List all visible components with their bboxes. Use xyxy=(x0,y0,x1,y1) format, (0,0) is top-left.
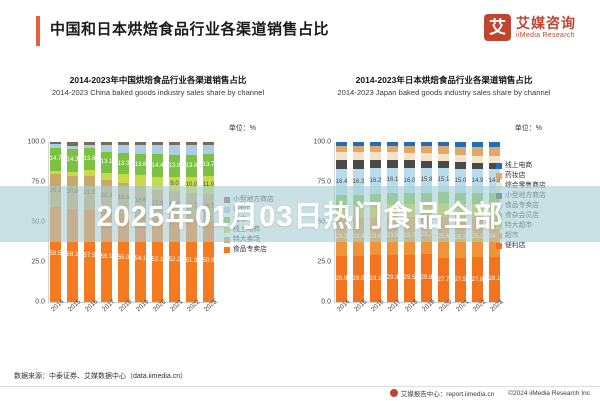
segment-综合零售商店 xyxy=(370,152,381,160)
segment-超市: 13.6 xyxy=(84,148,95,170)
chart-title-china: 2014-2023年中国烘焙食品行业各渠道销售占比 xyxy=(14,74,302,86)
y-tick-label: 100.0 xyxy=(27,139,45,146)
logo-text: 艾媒咨询 iiMedia Research xyxy=(516,16,576,40)
chart-subtitle-china: 2014-2023 China baked goods industry sal… xyxy=(14,87,302,98)
header-accent-bar xyxy=(36,16,40,46)
segment-value-label: 27.7 xyxy=(438,277,450,283)
segment-便利店: 29.1 xyxy=(370,255,381,302)
segment-便利店 xyxy=(101,145,112,152)
logo-name-en: iiMedia Research xyxy=(516,31,576,40)
segment-小型地方商店 xyxy=(353,160,364,168)
segment-便利店: 29.5 xyxy=(404,255,415,302)
segment-value-label: 13.3 xyxy=(118,161,130,167)
segment-药妆店 xyxy=(472,147,483,155)
y-tick-label: 0.0 xyxy=(321,299,331,306)
copyright-label: ©2024 iiMedia Research Inc xyxy=(508,390,590,397)
segment-超市: 13.7 xyxy=(203,154,214,176)
segment-综合零售商店 xyxy=(336,152,347,160)
segment-value-label: 58.1 xyxy=(67,252,79,258)
segment-value-label: 29.3 xyxy=(387,275,399,281)
segment-value-label: 50.9 xyxy=(203,258,215,264)
legend-item-食品专卖店[interactable]: 食品专卖店 xyxy=(224,246,274,254)
segment-value-label: 13.1 xyxy=(101,159,113,165)
x-axis-japan: 2014201520162017201820192020202120222023 xyxy=(336,305,506,345)
legend-swatch-icon xyxy=(496,173,502,179)
x-tick: 2020 xyxy=(438,305,455,345)
y-tick-label: 75.0 xyxy=(317,179,331,186)
x-tick: 2020 xyxy=(152,305,169,345)
segment-value-label: 27.5 xyxy=(455,277,467,283)
segment-药妆店 xyxy=(421,146,432,153)
x-tick: 2021 xyxy=(455,305,472,345)
segment-value-label: 15.8 xyxy=(421,177,433,183)
watermark-text: 2025年01月03日热门食品全部 xyxy=(0,186,600,242)
legend-swatch-icon xyxy=(496,243,502,249)
footer-content: 艾媒报告中心：report.iimedia.cn ©2024 iiMedia R… xyxy=(390,388,590,398)
legend-swatch-icon xyxy=(224,247,230,253)
segment-线上电商 xyxy=(118,174,129,183)
segment-超市: 13.8 xyxy=(186,155,197,177)
segment-value-label: 16.0 xyxy=(404,178,416,184)
x-tick: 2021 xyxy=(169,305,186,345)
segment-药妆店 xyxy=(438,146,449,154)
segment-value-label: 16.4 xyxy=(336,179,348,185)
y-tick-label: 0.0 xyxy=(35,299,45,306)
footer-logo-icon xyxy=(390,389,398,397)
segment-value-label: 14.9 xyxy=(472,178,484,184)
segment-线上电商 xyxy=(101,173,112,180)
data-source-note: 数据来源：中泰证券、艾媒数据中心（data.iimedia.cn） xyxy=(14,371,187,381)
segment-value-label: 14.4 xyxy=(152,163,164,169)
x-tick: 2017 xyxy=(387,305,404,345)
segment-便利店 xyxy=(203,145,214,155)
x-tick: 2019 xyxy=(135,305,152,345)
segment-超市: 13.1 xyxy=(101,152,112,173)
legend-item-便利店[interactable]: 便利店 xyxy=(496,242,546,250)
x-tick: 2015 xyxy=(353,305,370,345)
x-tick: 2018 xyxy=(118,305,135,345)
segment-小型地方商店 xyxy=(438,161,449,168)
segment-value-label: 15.1 xyxy=(438,177,450,183)
segment-超市: 13.6 xyxy=(135,154,146,176)
segment-小型地方商店 xyxy=(336,160,347,169)
segment-综合零售商店 xyxy=(472,156,483,163)
segment-便利店 xyxy=(118,145,129,153)
segment-value-label: 15.0 xyxy=(455,178,467,184)
x-tick: 2016 xyxy=(370,305,387,345)
segment-value-label: 54.1 xyxy=(135,256,147,262)
segment-便利店: 29.8 xyxy=(421,254,432,302)
segment-超市: 14.4 xyxy=(152,154,163,177)
y-tick-label: 75.0 xyxy=(31,179,45,186)
segment-value-label: 13.6 xyxy=(84,156,96,162)
segment-便利店: 29.0 xyxy=(353,256,364,302)
segment-value-label: 51.3 xyxy=(186,258,198,264)
segment-value-label: 28.9 xyxy=(336,276,348,282)
segment-线上电商 xyxy=(135,175,146,185)
x-tick: 2015 xyxy=(67,305,84,345)
segment-便利店: 29.3 xyxy=(387,255,398,302)
x-tick: 2023 xyxy=(489,305,506,345)
segment-便利店 xyxy=(169,145,180,155)
y-tick-label: 100.0 xyxy=(313,139,331,146)
segment-超市: 14.3 xyxy=(67,149,78,172)
legend-label: 药妆店 xyxy=(505,172,525,180)
segment-value-label: 13.6 xyxy=(135,162,147,168)
segment-value-label: 16.1 xyxy=(387,177,399,183)
segment-综合零售商店 xyxy=(421,153,432,161)
segment-value-label: 29.1 xyxy=(370,276,382,282)
legend-item-线上电商[interactable]: 线上电商 xyxy=(496,162,546,170)
segment-药妆店 xyxy=(455,147,466,155)
brand-logo: 艾 艾媒咨询 iiMedia Research xyxy=(484,14,576,41)
x-tick: 2014 xyxy=(50,305,67,345)
segment-便利店: 27.5 xyxy=(455,258,466,302)
segment-药妆店 xyxy=(489,147,500,156)
report-center-label: 艾媒报告中心：report.iimedia.cn xyxy=(401,388,495,398)
segment-小型地方商店 xyxy=(421,161,432,168)
legend-label: 线上电商 xyxy=(505,162,532,170)
segment-value-label: 29.5 xyxy=(404,275,416,281)
segment-综合零售商店 xyxy=(353,152,364,160)
x-tick: 2022 xyxy=(186,305,203,345)
legend-label: 便利店 xyxy=(505,242,525,250)
segment-便利店 xyxy=(152,145,163,154)
footer-bar: 艾媒报告中心：report.iimedia.cn ©2024 iiMedia R… xyxy=(0,386,600,401)
legend-swatch-icon xyxy=(496,163,502,169)
page-header: 中国和日本烘焙食品行业各渠道销售占比 艾 艾媒咨询 iiMedia Resear… xyxy=(0,0,600,62)
segment-value-label: 56.1 xyxy=(101,254,113,260)
segment-便利店: 28.9 xyxy=(336,256,347,302)
chart-unit-china: 单位：% xyxy=(229,123,256,133)
segment-超市: 14.7 xyxy=(50,148,61,172)
segment-value-label: 55.0 xyxy=(118,255,130,261)
legend-item-药妆店[interactable]: 药妆店 xyxy=(496,172,546,180)
segment-value-label: 29.0 xyxy=(353,276,365,282)
logo-name-cn: 艾媒咨询 xyxy=(516,16,576,31)
segment-综合零售商店 xyxy=(438,154,449,161)
segment-value-label: 52.1 xyxy=(152,257,164,263)
segment-综合零售商店 xyxy=(387,152,398,160)
segment-value-label: 14.3 xyxy=(67,157,79,163)
segment-小型地方商店 xyxy=(387,160,398,168)
segment-综合零售商店 xyxy=(455,155,466,162)
segment-便利店 xyxy=(135,145,146,154)
x-tick: 2014 xyxy=(336,305,353,345)
x-tick: 2023 xyxy=(203,305,220,345)
segment-超市: 13.3 xyxy=(118,153,129,174)
segment-便利店: 28.1 xyxy=(489,257,500,302)
chart-subtitle-japan: 2014-2023 Japan baked goods industry sal… xyxy=(300,87,588,98)
segment-value-label: 57.5 xyxy=(84,253,96,259)
segment-小型地方商店 xyxy=(404,160,415,167)
page-title: 中国和日本烘焙食品行业各渠道销售占比 xyxy=(50,18,329,39)
logo-mark-icon: 艾 xyxy=(484,14,511,41)
segment-便利店: 27.7 xyxy=(438,258,449,302)
segment-便利店 xyxy=(186,145,197,155)
segment-便利店: 27.8 xyxy=(472,257,483,301)
segment-value-label: 59.5 xyxy=(50,251,62,257)
x-tick: 2019 xyxy=(421,305,438,345)
y-tick-label: 25.0 xyxy=(317,259,331,266)
segment-超市: 13.9 xyxy=(169,155,180,177)
segment-value-label: 13.9 xyxy=(169,163,181,169)
segment-value-label: 13.7 xyxy=(203,162,215,168)
legend-label: 食品专卖店 xyxy=(233,246,267,254)
segment-value-label: 52.2 xyxy=(169,257,181,263)
x-tick: 2016 xyxy=(84,305,101,345)
chart-title-japan: 2014-2023年日本烘焙食品行业各渠道销售占比 xyxy=(300,74,588,86)
segment-value-label: 14.7 xyxy=(50,156,62,162)
segment-小型地方商店 xyxy=(370,160,381,168)
x-tick: 2022 xyxy=(472,305,489,345)
report-center-link[interactable]: 艾媒报告中心：report.iimedia.cn xyxy=(390,388,495,398)
x-axis-china: 2014201520162017201820192020202120222023 xyxy=(50,305,220,345)
segment-value-label: 28.1 xyxy=(489,276,501,282)
segment-value-label: 16.3 xyxy=(353,179,365,185)
segment-value-label: 16.2 xyxy=(370,178,382,184)
segment-综合零售商店 xyxy=(404,153,415,161)
y-tick-label: 25.0 xyxy=(31,259,45,266)
segment-value-label: 13.8 xyxy=(186,163,198,169)
x-tick: 2018 xyxy=(404,305,421,345)
x-tick: 2017 xyxy=(101,305,118,345)
chart-unit-japan: 单位：% xyxy=(515,123,542,133)
segment-value-label: 27.8 xyxy=(472,277,484,283)
segment-value-label: 29.8 xyxy=(421,275,433,281)
